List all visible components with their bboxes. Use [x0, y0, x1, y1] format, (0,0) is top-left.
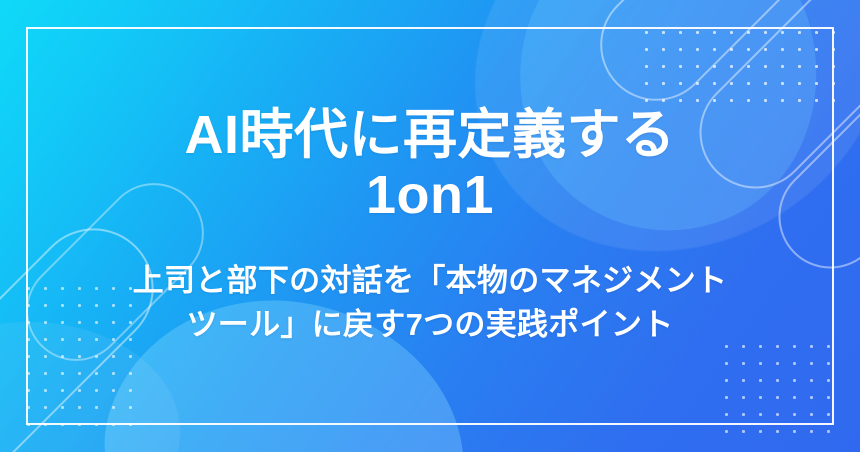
subtitle-line-1: 上司と部下の対話を「本物のマネジメント — [133, 259, 728, 303]
banner-subtitle: 上司と部下の対話を「本物のマネジメント ツール」に戻す7つの実践ポイント — [133, 259, 728, 347]
title-line-2: 1on1 — [185, 165, 676, 225]
banner-content: AI時代に再定義する 1on1 上司と部下の対話を「本物のマネジメント ツール」… — [0, 0, 860, 452]
title-line-1: AI時代に再定義する — [185, 105, 676, 165]
subtitle-line-2: ツール」に戻す7つの実践ポイント — [133, 303, 728, 347]
banner-title: AI時代に再定義する 1on1 — [185, 105, 676, 226]
banner-canvas: AI時代に再定義する 1on1 上司と部下の対話を「本物のマネジメント ツール」… — [0, 0, 860, 452]
